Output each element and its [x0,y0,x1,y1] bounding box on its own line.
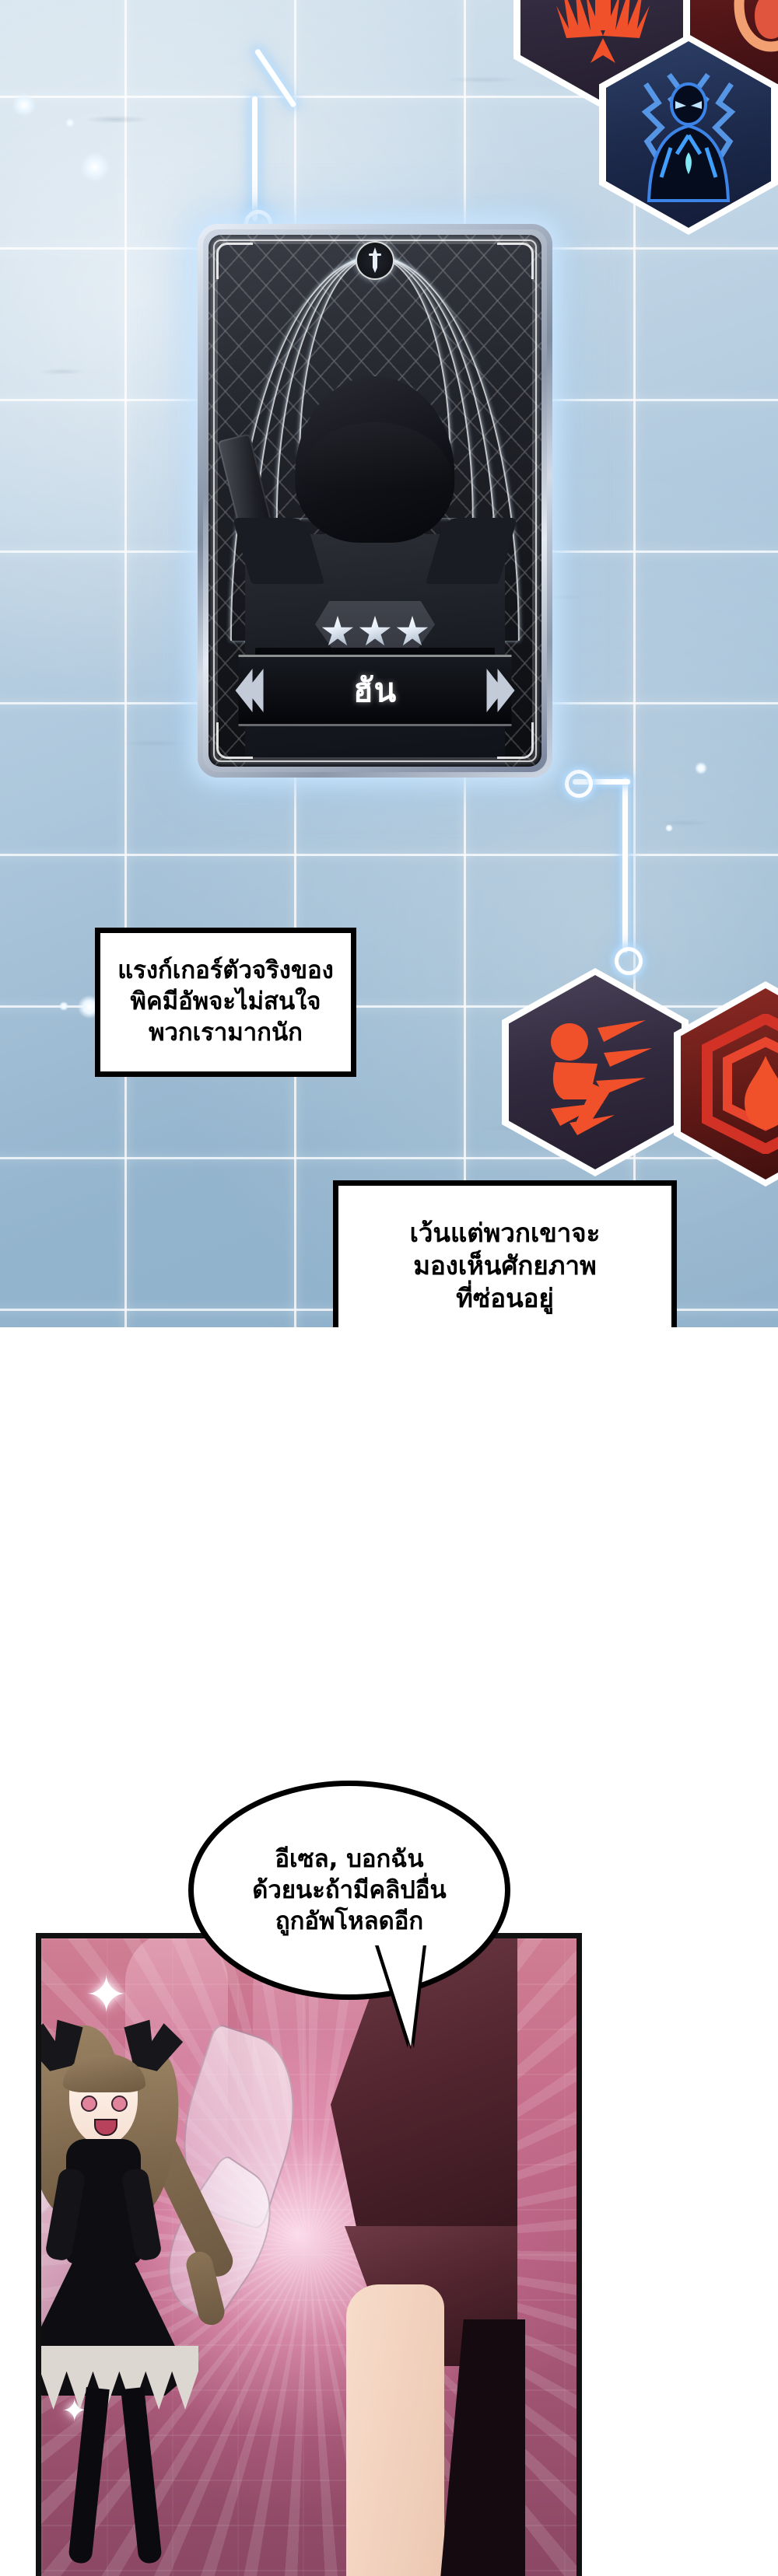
card-corner-ornament [216,243,253,279]
speech-bubble-2-text: เว้นแต่พวกเขาจะ มองเห็นศักยภาพ ที่ซ่อนอย… [396,1217,615,1316]
card-artwork: ฮัน [209,235,541,767]
star-icon [321,616,354,648]
speech-bubble-1-text: แรงก์เกอร์ตัวจริงของ พิคมีอัพจะไม่สนใจ พ… [103,956,348,1048]
light-orb [12,93,36,117]
speed-runner-icon [529,1006,661,1138]
light-orb [665,824,673,832]
star-icon [359,616,391,648]
fairy-eye-right [111,2095,128,2112]
speech-bubble-1: แรงก์เกอร์ตัวจริงของ พิคมีอัพจะไม่สนใจ พ… [95,928,356,1077]
speech-line: เว้นแต่พวกเขาจะ [410,1217,601,1250]
light-orb [59,1001,68,1011]
circuit-node [615,947,643,975]
card-corner-ornament [497,722,534,759]
speech-line: ด้วยนะถ้ามีคลิปอื่น [252,1875,446,1906]
chevron-right-ornament [486,669,514,712]
light-orb [65,118,75,128]
lightning-humanoid-icon [615,61,762,208]
light-orb [80,152,110,182]
pink-dungeon-panel: ✦ ✕ ✕ ✕ ✦ ✦ ✦ ✦ ✦ [36,1933,582,2576]
speech-line: พวกเรามากนัก [117,1018,334,1049]
blaze-icon [699,1014,778,1154]
speech-bubble-3-text: อีเซล, บอกฉัน ด้วยนะถ้ามีคลิปอื่น ถูกอัพ… [238,1844,460,1938]
sparkle-icon: ✦ [85,1970,128,2021]
speech-bubble-3: อีเซล, บอกฉัน ด้วยนะถ้ามีคลิปอื่น ถูกอัพ… [188,1781,510,2000]
card-emblem [356,241,394,280]
standing-person [331,1933,556,2576]
card-corner-ornament [497,243,534,279]
fairy-leg-right [121,2387,162,2564]
speech-line: ที่ซ่อนอยู่ [410,1282,601,1315]
star-icon [396,616,429,648]
hero-character-card[interactable]: ฮัน [198,224,552,778]
speech-line: พิคมีอัพจะไม่สนใจ [117,987,334,1018]
speech-bubble-3-tail [378,1944,423,2046]
webtoon-page: ฮัน แรงก์เกอร์ตัวจริงของ พิคมีอัพจะไม่สน… [0,0,778,2576]
speech-bubble-2: เว้นแต่พวกเขาจะ มองเห็นศักยภาพ ที่ซ่อนอย… [333,1180,677,1327]
fairy-eye-left [81,2095,97,2112]
circuit-node [565,770,593,798]
card-corner-ornament [216,722,253,759]
dagger-icon [368,247,382,274]
chevron-left-ornament [236,669,264,712]
circuit-wire [252,96,258,221]
person-thigh [346,2284,444,2576]
status-wall-panel: ฮัน แรงก์เกอร์ตัวจริงของ พิคมีอัพจะไม่สน… [0,0,778,1327]
rarity-stars [321,616,429,648]
card-character-name: ฮัน [353,665,397,716]
light-orb [695,762,707,774]
flame-icon [713,0,778,62]
speech-line: อีเซล, บอกฉัน [252,1844,446,1875]
speech-line: แรงก์เกอร์ตัวจริงของ [117,956,334,987]
circuit-wire [622,778,628,952]
card-nameplate: ฮัน [239,655,512,726]
speech-line: มองเห็นศักยภาพ [410,1250,601,1282]
fairy-leg-left [68,2387,109,2564]
speech-line: ถูกอัพโหลดอีก [252,1906,446,1937]
